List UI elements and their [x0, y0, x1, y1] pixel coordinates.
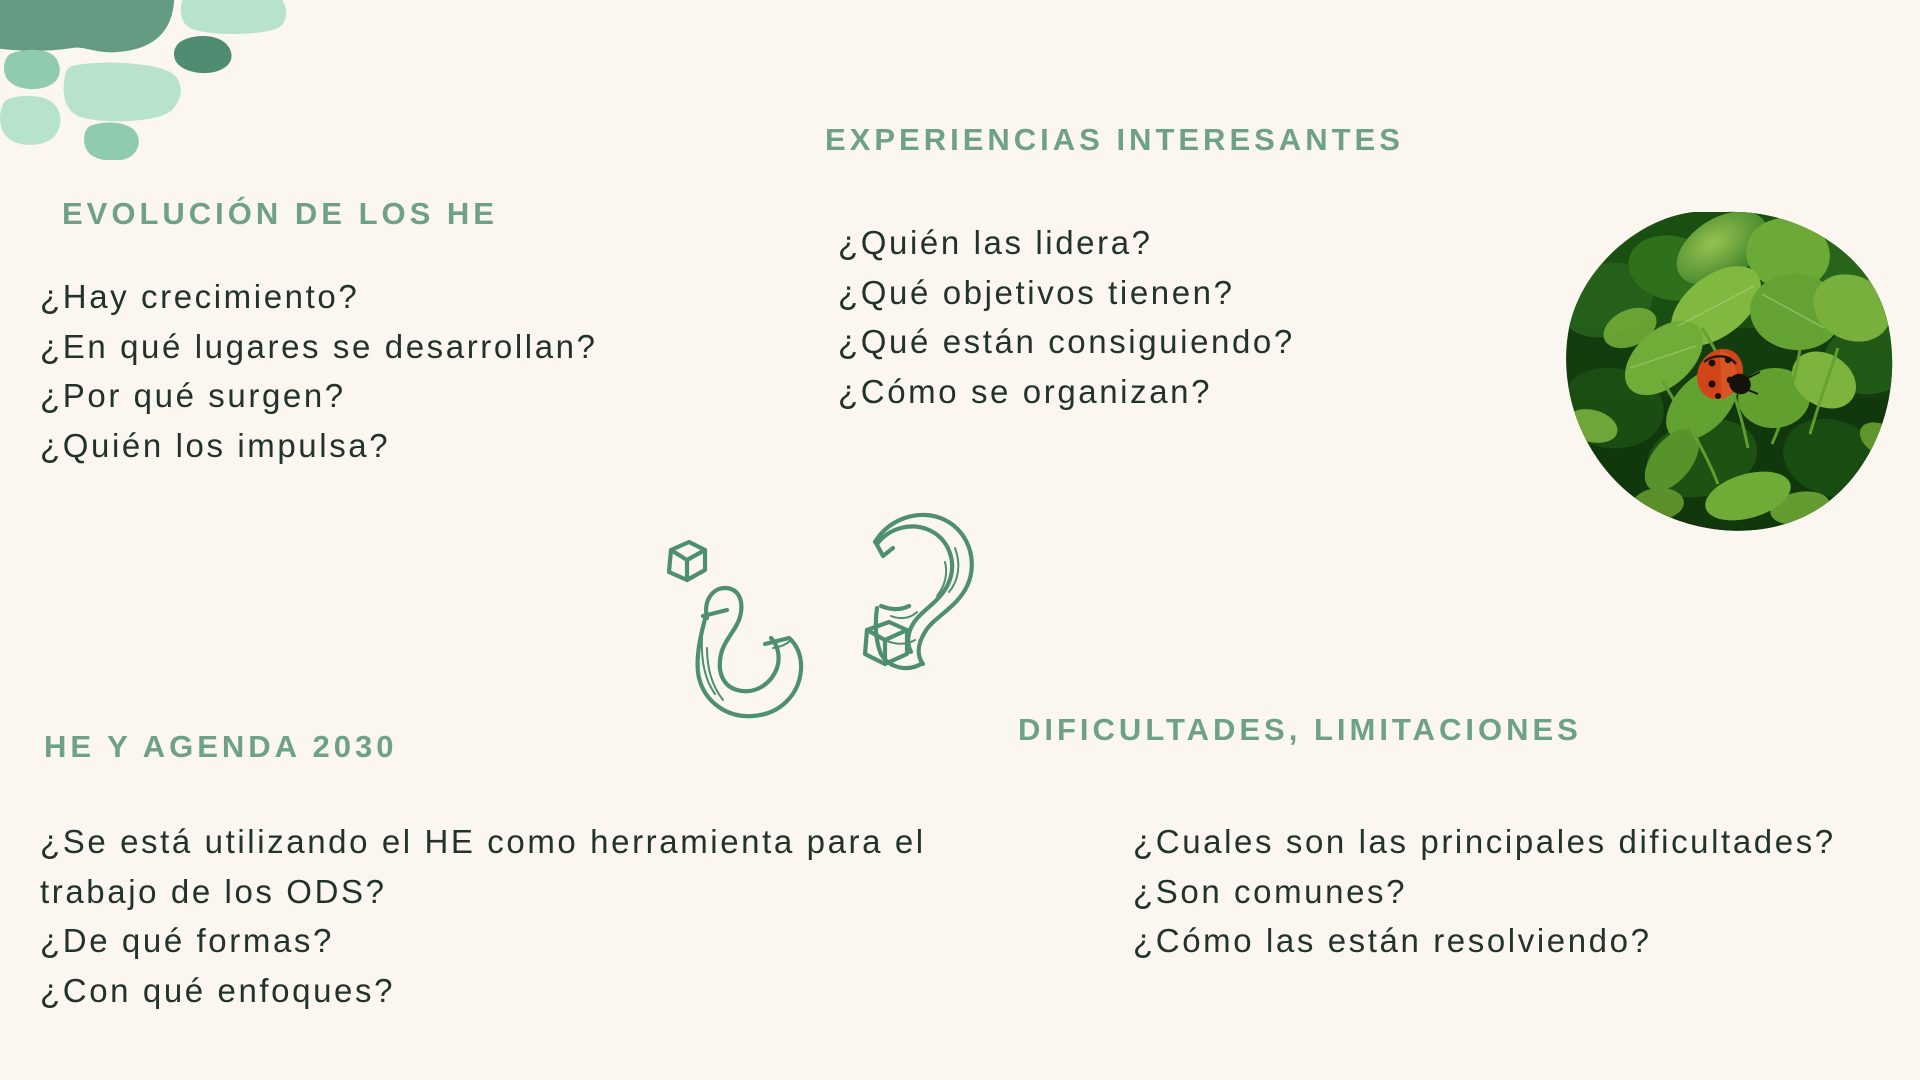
question-item: ¿Quién las lidera? — [838, 218, 1295, 268]
question-item: ¿Cuales son las principales dificultades… — [1133, 817, 1893, 867]
question-mark-left-shade-3 — [773, 640, 791, 648]
question-mark-right-thickness-b — [881, 606, 909, 609]
question-item: ¿Qué objetivos tienen? — [838, 268, 1295, 318]
pebble-pale-center — [64, 63, 181, 122]
question-item: ¿Quién los impulsa? — [40, 421, 598, 471]
question-mark-left-thickness-b — [765, 638, 789, 644]
pebble-mid-bottom — [84, 123, 139, 160]
photo-content — [1552, 208, 1900, 536]
pebble-pale-bottomleft — [0, 96, 60, 145]
question-list-experiencias: ¿Quién las lidera? ¿Qué objetivos tienen… — [838, 218, 1295, 416]
question-item: ¿Con qué enfoques? — [40, 966, 1040, 1016]
heading-dificultades-limitaciones: DIFICULTADES, LIMITACIONES — [1018, 713, 1582, 747]
question-mark-left-cube-edge-a — [671, 550, 705, 560]
question-mark-right-bottom — [876, 608, 921, 668]
question-mark-left-inner — [698, 619, 802, 716]
question-mark-right-shade-4 — [885, 640, 915, 644]
question-item: ¿Son comunes? — [1133, 867, 1893, 917]
question-mark-left-cube — [669, 542, 705, 580]
ladybug-clover-photo — [1552, 208, 1900, 536]
question-mark-right-cube-edge-a — [867, 630, 907, 640]
question-mark-right-inner — [875, 515, 972, 664]
slide-canvas: EVOLUCIÓN DE LOS HE ¿Hay crecimiento? ¿E… — [0, 0, 1920, 1080]
question-mark-right-stroke — [877, 526, 952, 652]
pebble-dark-large — [0, 0, 174, 52]
question-mark-right-shade-3 — [891, 612, 917, 618]
question-list-agenda: ¿Se está utilizando el HE como herramien… — [40, 817, 1040, 1015]
question-item: ¿Se está utilizando el HE como herramien… — [40, 817, 1040, 916]
question-mark-left-stroke — [706, 588, 779, 691]
question-mark-left-thickness-a — [703, 610, 727, 616]
question-item: ¿Qué están consiguiendo? — [838, 317, 1295, 367]
question-mark-left-shade-1 — [702, 638, 715, 694]
question-item: ¿De qué formas? — [40, 916, 1040, 966]
heading-experiencias-interesantes: EXPERIENCIAS INTERESANTES — [825, 123, 1404, 157]
pebble-deep-right — [174, 36, 232, 73]
question-item: ¿En qué lugares se desarrollan? — [40, 322, 598, 372]
pebble-mid-left — [4, 50, 60, 89]
heading-he-y-agenda-2030: HE Y AGENDA 2030 — [44, 730, 397, 764]
question-mark-right-shade-2 — [937, 562, 946, 596]
question-mark-left-shade-2 — [707, 648, 723, 700]
question-mark-right-thickness-a — [876, 543, 893, 556]
question-mark-right-cube — [865, 622, 907, 664]
question-item: ¿Cómo las están resolviendo? — [1133, 916, 1893, 966]
question-list-evolucion: ¿Hay crecimiento? ¿En qué lugares se des… — [40, 272, 598, 470]
question-mark-right-shade-1 — [949, 548, 958, 592]
question-list-dificultades: ¿Cuales son las principales dificultades… — [1133, 817, 1893, 966]
question-mark-illustration — [645, 488, 1005, 738]
corner-pebble-cluster — [0, 0, 300, 160]
question-item: ¿Hay crecimiento? — [40, 272, 598, 322]
question-item: ¿Cómo se organizan? — [838, 367, 1295, 417]
pebble-pale-topright — [181, 0, 286, 34]
question-item: ¿Por qué surgen? — [40, 371, 598, 421]
heading-evolucion-de-los-he: EVOLUCIÓN DE LOS HE — [62, 197, 498, 231]
